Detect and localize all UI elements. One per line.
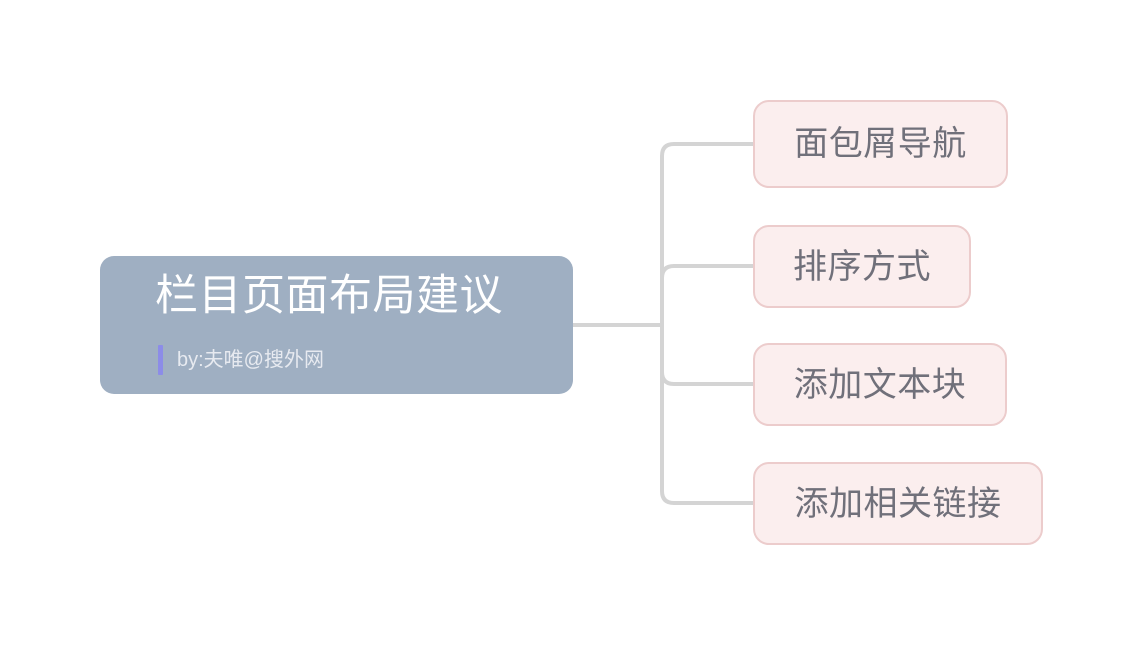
connector-branch-3 — [662, 325, 753, 503]
mindmap-canvas: 栏目页面布局建议 by:夫唯@搜外网 面包屑导航 排序方式 添加文本块 添加相关… — [0, 0, 1144, 648]
child-node-label: 排序方式 — [793, 245, 931, 289]
child-node-label: 添加相关链接 — [795, 482, 1002, 526]
child-node-sort-method[interactable]: 排序方式 — [753, 225, 971, 308]
child-node-add-related-links[interactable]: 添加相关链接 — [753, 462, 1043, 545]
child-node-label: 添加文本块 — [794, 363, 967, 407]
root-node-title: 栏目页面布局建议 — [155, 268, 503, 324]
root-node-subtitle: by:夫唯@搜外网 — [177, 345, 324, 375]
connector-branch-0 — [662, 144, 753, 325]
child-node-breadcrumb[interactable]: 面包屑导航 — [753, 100, 1008, 188]
root-node[interactable]: 栏目页面布局建议 by:夫唯@搜外网 — [100, 256, 573, 394]
connector-branch-2 — [662, 325, 753, 384]
connector-branch-1 — [662, 266, 753, 325]
accent-bar-icon — [158, 345, 163, 375]
child-node-add-text-block[interactable]: 添加文本块 — [753, 343, 1007, 426]
child-node-label: 面包屑导航 — [794, 122, 967, 166]
root-node-subtitle-row: by:夫唯@搜外网 — [158, 344, 324, 376]
